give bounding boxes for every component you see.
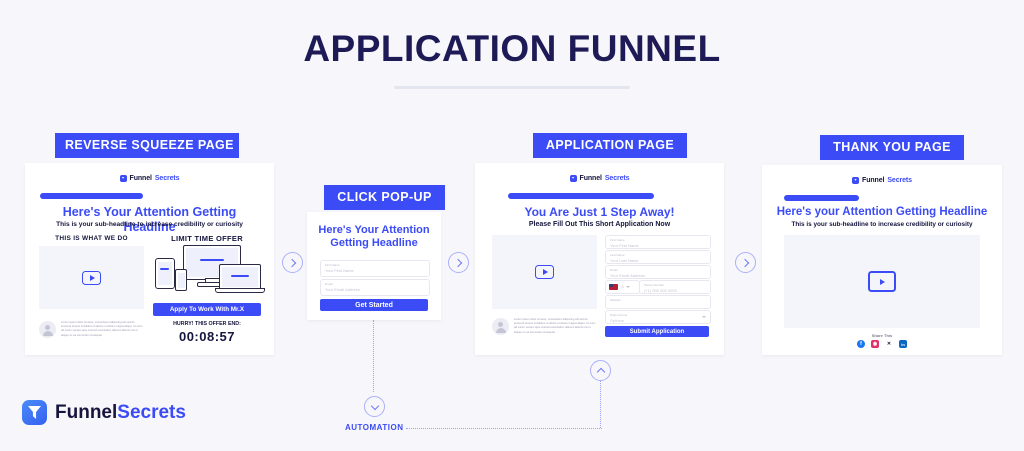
phone-device <box>175 269 187 291</box>
card-thank-you-page[interactable]: FunnelSecrets Here's your Attention Gett… <box>762 165 1002 355</box>
title-divider <box>394 86 630 89</box>
ty-share-label: Share This <box>762 333 1002 338</box>
rsp-device-mockup <box>153 245 261 293</box>
chevron-up-icon <box>596 367 604 375</box>
popup-email-field[interactable]: Email Your Email Address <box>320 279 430 296</box>
funnel-icon <box>22 400 47 425</box>
rsp-left-column-title: THIS IS WHAT WE DO <box>39 235 144 242</box>
popup-first-name-label: First Name <box>325 263 340 267</box>
popup-headline: Here's Your Attention Getting Headline <box>316 224 432 250</box>
app-testimonial-text: Lorem ipsum dolor sit amet, consectetur … <box>514 318 597 335</box>
tablet-device <box>155 258 175 289</box>
badge-reverse-squeeze-page: REVERSE SQUEEZE PAGE <box>55 133 239 158</box>
laptop-base <box>215 288 265 293</box>
funnel-icon <box>852 177 859 184</box>
accent-bar <box>40 193 143 199</box>
chevron-down-icon <box>370 401 378 409</box>
app-phone-value: (+1) 000 000 0000 <box>644 288 677 293</box>
app-country-select[interactable]: +1 <box>605 280 640 294</box>
automation-line-horizontal <box>406 428 602 429</box>
avatar <box>39 321 56 338</box>
x-twitter-icon[interactable]: ✕ <box>885 340 893 348</box>
badge-thank-you-page: THANK YOU PAGE <box>820 135 964 160</box>
connector-arrow-3 <box>735 252 756 273</box>
app-income-label: Daily Income <box>610 313 627 317</box>
app-first-name-value: Your First Name <box>610 243 639 248</box>
app-first-name-field[interactable]: First Name Your First Name <box>605 235 711 249</box>
rsp-countdown-timer: 00:08:57 <box>153 329 261 344</box>
play-icon[interactable] <box>868 271 896 292</box>
connector-arrow-1 <box>282 252 303 273</box>
app-email-value: Your Email Address <box>610 273 645 278</box>
us-flag-icon <box>609 284 618 290</box>
app-income-select[interactable]: Daily Income Options <box>605 310 711 324</box>
ty-subheadline: This is your sub-headline to increase cr… <box>772 221 992 228</box>
avatar <box>492 318 509 335</box>
connector-arrow-2 <box>448 252 469 273</box>
linkedin-icon[interactable]: in <box>899 340 907 348</box>
rsp-cta-button[interactable]: Apply To Work With Mr.X <box>153 303 261 316</box>
chevron-down-icon <box>626 286 630 288</box>
rsp-video-placeholder[interactable] <box>39 246 144 309</box>
automation-down-node <box>364 396 385 417</box>
card-application-page[interactable]: FunnelSecrets You Are Just 1 Step Away! … <box>475 163 724 355</box>
rsp-timer-label: HURRY! THIS OFFER END: <box>153 321 261 327</box>
app-phone-field[interactable]: Phone Number (+1) 000 000 0000 <box>639 280 711 294</box>
app-last-name-value: Your Last Name <box>610 258 639 263</box>
app-first-name-label: First Name <box>610 238 625 242</box>
page-title: APPLICATION FUNNEL <box>0 28 1024 70</box>
automation-label: AUTOMATION <box>345 423 403 432</box>
play-icon[interactable] <box>535 265 554 279</box>
badge-click-popup: CLICK POP-UP <box>324 185 445 210</box>
app-testimonial: Lorem ipsum dolor sit amet, consectetur … <box>492 318 597 335</box>
funnel-diagram-canvas: APPLICATION FUNNEL REVERSE SQUEEZE PAGE … <box>0 0 1024 451</box>
ty-headline: Here's your Attention Getting Headline <box>772 206 992 220</box>
card-click-popup[interactable]: Here's Your Attention Getting Headline F… <box>307 212 441 320</box>
brand-logo: FunnelSecrets <box>25 175 274 182</box>
app-submit-button[interactable]: Submit Application <box>605 326 709 337</box>
app-website-field[interactable]: Website <box>605 295 711 309</box>
brand-logo: FunnelSecrets <box>475 175 724 182</box>
facebook-icon[interactable]: f <box>857 340 865 348</box>
badge-application-page: APPLICATION PAGE <box>533 133 687 158</box>
automation-up-node <box>590 360 611 381</box>
app-website-label: Website <box>610 298 621 302</box>
app-video-placeholder[interactable] <box>492 235 597 309</box>
footer-logo-text: FunnelSecrets <box>55 402 186 424</box>
app-subheadline: Please Fill Out This Short Application N… <box>485 221 714 228</box>
automation-line-up <box>600 380 601 428</box>
popup-email-label: Email <box>325 282 333 286</box>
popup-email-value: Your Email Address <box>325 287 360 292</box>
app-income-value: Options <box>610 318 624 323</box>
popup-cta-button[interactable]: Get Started <box>320 299 428 311</box>
popup-first-name-field[interactable]: First Name Your First Name <box>320 260 430 277</box>
accent-bar <box>508 193 654 199</box>
funnel-icon <box>570 175 577 182</box>
app-email-label: Email <box>610 268 618 272</box>
ty-social-links[interactable]: f ◉ ✕ in <box>762 340 1002 348</box>
play-icon[interactable] <box>82 271 101 285</box>
automation-line-down <box>373 320 374 392</box>
rsp-right-column-title: LIMIT TIME OFFER <box>153 234 261 243</box>
ty-video-placeholder[interactable] <box>784 235 980 328</box>
rsp-testimonial-text: Lorem ipsum dolor sit amet, consectetur … <box>61 321 144 338</box>
rsp-subheadline: This is your sub-headline to increase cr… <box>35 221 264 228</box>
funnel-icon <box>120 175 127 182</box>
laptop-device <box>219 264 261 290</box>
rsp-testimonial: Lorem ipsum dolor sit amet, consectetur … <box>39 321 144 338</box>
app-phone-label: Phone Number <box>644 283 664 287</box>
chevron-right-icon <box>740 258 748 266</box>
chevron-down-icon <box>702 316 706 318</box>
app-headline: You Are Just 1 Step Away! <box>485 205 714 219</box>
app-last-name-label: Last Name <box>610 253 625 257</box>
brand-logo: FunnelSecrets <box>762 177 1002 184</box>
accent-bar <box>784 195 859 201</box>
card-reverse-squeeze-page[interactable]: FunnelSecrets Here's Your Attention Gett… <box>25 163 274 355</box>
footer-logo[interactable]: FunnelSecrets <box>22 400 186 425</box>
rsp-headline: Here's Your Attention Getting Headline <box>35 205 264 235</box>
app-last-name-field[interactable]: Last Name Your Last Name <box>605 250 711 264</box>
chevron-right-icon <box>287 258 295 266</box>
chevron-right-icon <box>453 258 461 266</box>
instagram-icon[interactable]: ◉ <box>871 340 879 348</box>
popup-first-name-value: Your First Name <box>325 268 354 273</box>
app-email-field[interactable]: Email Your Email Address <box>605 265 711 279</box>
